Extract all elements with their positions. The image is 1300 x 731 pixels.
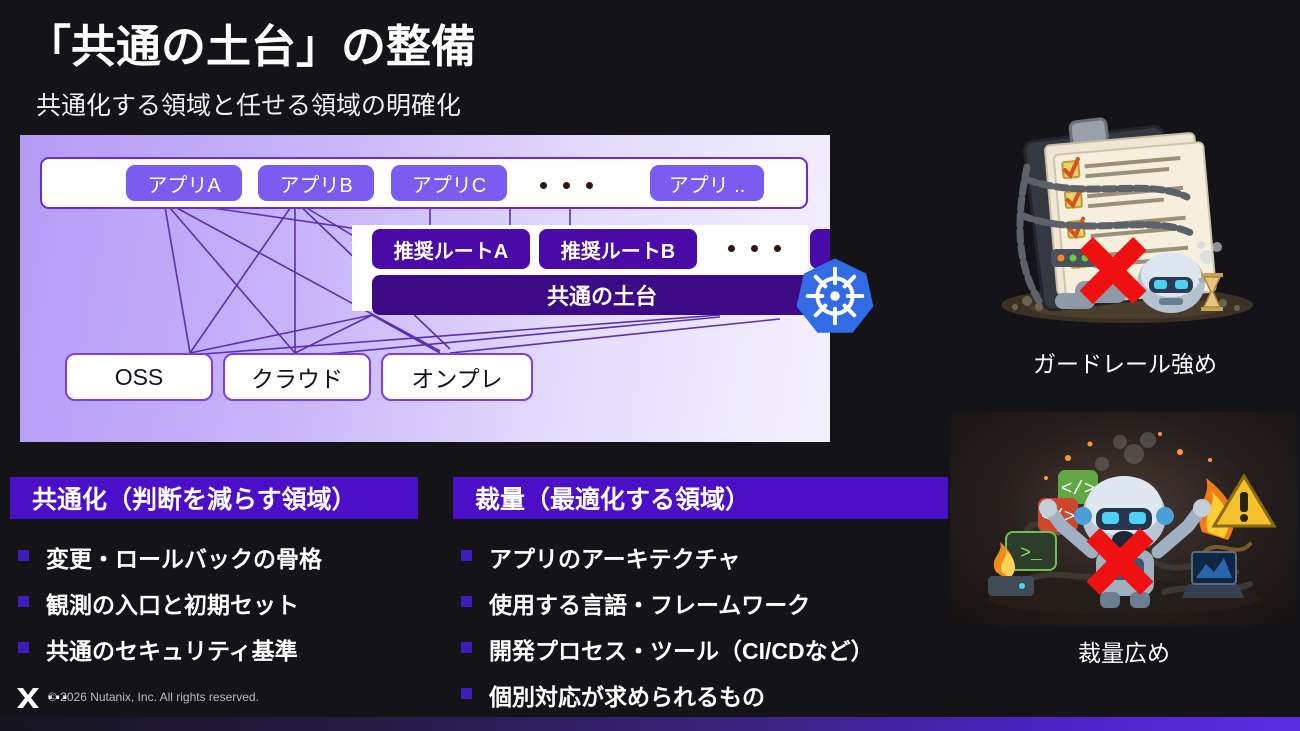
infra-chip-cloud-label: クラウド: [251, 360, 343, 394]
route-chip-b[interactable]: 推奨ルートB: [539, 229, 697, 269]
list-item-label: 使用する言語・フレームワーク: [489, 586, 810, 620]
bullet-square-icon: [461, 688, 472, 699]
app-chip-more[interactable]: アプリ ..: [650, 165, 764, 201]
infra-chip-oss-label: OSS: [115, 364, 164, 391]
section-header-common: 共通化（判断を減らす領域）: [10, 477, 418, 519]
section-header-discretion-label: 裁量（最適化する領域）: [475, 480, 750, 516]
app-chip-more-label: アプリ ..: [669, 169, 746, 198]
illustration-guardrail-strong: ガードレール強め: [955, 105, 1295, 379]
bullet-square-icon: [18, 550, 29, 561]
illustration-caption-guardrail: ガードレール強め: [955, 345, 1295, 379]
infra-chip-onprem-label: オンプレ: [411, 360, 502, 394]
infra-chip-onprem[interactable]: オンプレ: [381, 353, 533, 401]
list-item-label: 個別対応が求められるもの: [489, 678, 765, 712]
bullet-square-icon: [18, 642, 29, 653]
foundation-bar-label: 共通の土台: [547, 279, 657, 311]
copyright-text: © 2026 Nutanix, Inc. All rights reserved…: [48, 690, 259, 704]
nutanix-x-logo-icon: [15, 686, 41, 710]
architecture-diagram: アプリA アプリB アプリC アプリ .. 推奨ルートA 推奨ルートB 共通の土…: [20, 135, 830, 442]
routes-ellipsis-icon: [728, 245, 781, 252]
route-chip-a[interactable]: 推奨ルートA: [372, 229, 530, 269]
route-chip-a-label: 推奨ルートA: [394, 235, 508, 264]
svg-text:>_: >_: [1020, 544, 1042, 564]
list-item-label: 変更・ロールバックの骨格: [46, 540, 322, 574]
slide-canvas: 「共通の土台」の整備 共通化する領域と任せる領域の明確化: [0, 0, 1300, 731]
list-item-label: 観測の入口と初期セット: [46, 586, 299, 620]
list-item: アプリのアーキテクチャ: [461, 540, 874, 574]
illustration-discretion-wide: </> </> >_: [950, 412, 1298, 668]
bullet-square-icon: [461, 596, 472, 607]
foundation-bar[interactable]: 共通の土台: [372, 275, 830, 315]
app-chip-b[interactable]: アプリB: [258, 165, 374, 201]
bullet-square-icon: [461, 642, 472, 653]
page-title: 「共通の土台」の整備: [26, 22, 476, 72]
app-chip-c[interactable]: アプリC: [391, 165, 507, 201]
red-x-marker-icon: [1082, 524, 1158, 600]
list-item: 変更・ロールバックの骨格: [18, 540, 322, 574]
list-item: 個別対応が求められるもの: [461, 678, 874, 712]
chained-clipboard-robot-image: [955, 105, 1295, 337]
app-chip-b-label: アプリB: [279, 169, 352, 198]
list-item-label: 開発プロセス・ツール（CI/CDなど）: [489, 632, 874, 666]
page-subtitle: 共通化する領域と任せる領域の明確化: [36, 86, 461, 122]
app-chip-c-label: アプリC: [412, 169, 486, 198]
infra-chip-cloud[interactable]: クラウド: [223, 353, 371, 401]
app-chip-a[interactable]: アプリA: [126, 165, 242, 201]
bullet-list-common: 変更・ロールバックの骨格 観測の入口と初期セット 共通のセキュリティ基準 …: [18, 540, 322, 705]
list-item: 開発プロセス・ツール（CI/CDなど）: [461, 632, 874, 666]
list-item: 観測の入口と初期セット: [18, 586, 322, 620]
route-chip-b-label: 推奨ルートB: [561, 235, 675, 264]
list-item: 共通のセキュリティ基準: [18, 632, 322, 666]
bullet-list-discretion: アプリのアーキテクチャ 使用する言語・フレームワーク 開発プロセス・ツール（CI…: [461, 540, 874, 731]
infra-chip-oss[interactable]: OSS: [65, 353, 213, 401]
section-header-common-label: 共通化（判断を減らす領域）: [32, 480, 357, 516]
app-chip-a-label: アプリA: [147, 169, 220, 198]
red-x-marker-icon: [1075, 233, 1151, 309]
list-item-label: 共通のセキュリティ基準: [46, 632, 298, 666]
illustration-caption-discretion: 裁量広め: [950, 634, 1298, 668]
bullet-square-icon: [18, 596, 29, 607]
bottom-accent-strip: [0, 717, 1300, 731]
overwhelmed-robot-chaos-image: </> </> >_: [950, 412, 1298, 626]
kubernetes-logo-icon: [795, 256, 875, 336]
list-item: 使用する言語・フレームワーク: [461, 586, 874, 620]
apps-ellipsis-icon: [540, 182, 593, 189]
section-header-discretion: 裁量（最適化する領域）: [453, 477, 948, 519]
bullet-square-icon: [461, 550, 472, 561]
list-item-label: アプリのアーキテクチャ: [489, 540, 740, 574]
